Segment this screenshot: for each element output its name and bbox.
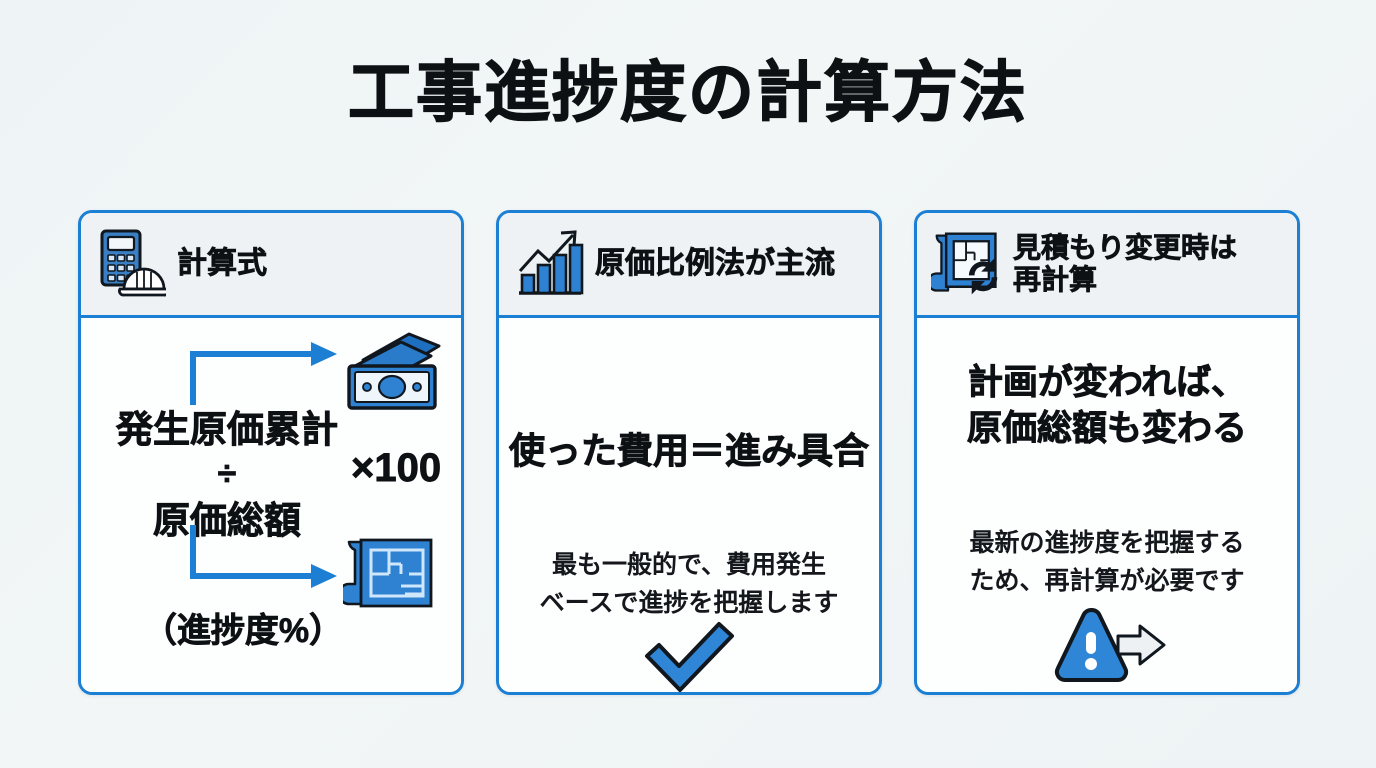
page-title: 工事進捗度の計算方法 (0, 58, 1376, 127)
card-header-title-line: 見積もり変更時は (1013, 232, 1237, 264)
formula-multiplier: ×100 (351, 446, 441, 491)
card-subtext-line: 最新の進捗度を把握する (931, 524, 1283, 562)
card-body-genka-hirei: 使った費用＝進み具合 最も一般的で、費用発生 ベースで進捗を把握します (499, 318, 879, 692)
bar-chart-growth-icon (513, 226, 585, 302)
slide-root: 工事進捗度の計算方法 (0, 0, 1376, 768)
formula-result-label: （進捗度%） (103, 603, 383, 652)
formula-operator: ÷ (93, 453, 361, 497)
card-headline: 計画が変われば、 原価総額も変わる (917, 360, 1297, 451)
warning-arrow-icon (1046, 608, 1168, 684)
arrow-down-right-icon (185, 524, 345, 599)
card-genka-hirei[interactable]: 原価比例法が主流 使った費用＝進み具合 最も一般的で、費用発生 ベースで進捗を把… (496, 210, 882, 695)
formula-numerator: 発生原価累計 (93, 406, 361, 453)
check-mark-icon-wrap (499, 616, 879, 694)
card-mitsumori-henkou[interactable]: 見積もり変更時は 再計算 計画が変われば、 原価総額も変わる 最新の進捗度を把握… (914, 210, 1300, 695)
card-body-keisanshiki: 発生原価累計 ÷ 原価総額 ×100 (81, 318, 461, 692)
card-body-mitsumori-henkou: 計画が変われば、 原価総額も変わる 最新の進捗度を把握する ため、再計算が必要で… (917, 318, 1297, 692)
card-subtext: 最も一般的で、費用発生 ベースで進捗を把握します (513, 546, 865, 622)
calculator-hardhat-icon (95, 226, 167, 302)
card-headline: 使った費用＝進み具合 (499, 428, 879, 475)
card-headline-line: 計画が変われば、 (917, 360, 1297, 406)
card-header-keisanshiki: 計算式 (81, 213, 461, 318)
card-header-mitsumori-henkou: 見積もり変更時は 再計算 (917, 213, 1297, 318)
card-subtext: 最新の進捗度を把握する ため、再計算が必要です (931, 524, 1283, 600)
card-header-title: 原価比例法が主流 (595, 247, 835, 282)
check-mark-icon (637, 616, 741, 694)
card-headline-line: 原価総額も変わる (917, 406, 1297, 452)
card-subtext-line: ため、再計算が必要です (931, 562, 1283, 600)
card-header-genka-hirei: 原価比例法が主流 (499, 213, 879, 318)
arrow-up-right-icon (185, 336, 345, 411)
card-keisanshiki[interactable]: 計算式 (78, 210, 464, 695)
warning-arrow-icon-wrap (917, 608, 1297, 684)
card-header-title: 見積もり変更時は 再計算 (1013, 232, 1237, 297)
blueprint-refresh-icon (931, 226, 1003, 302)
card-grid: 計算式 (78, 210, 1300, 695)
card-header-title-line: 再計算 (1013, 264, 1237, 296)
card-header-title: 計算式 (177, 247, 267, 282)
card-subtext-line: 最も一般的で、費用発生 (513, 546, 865, 584)
